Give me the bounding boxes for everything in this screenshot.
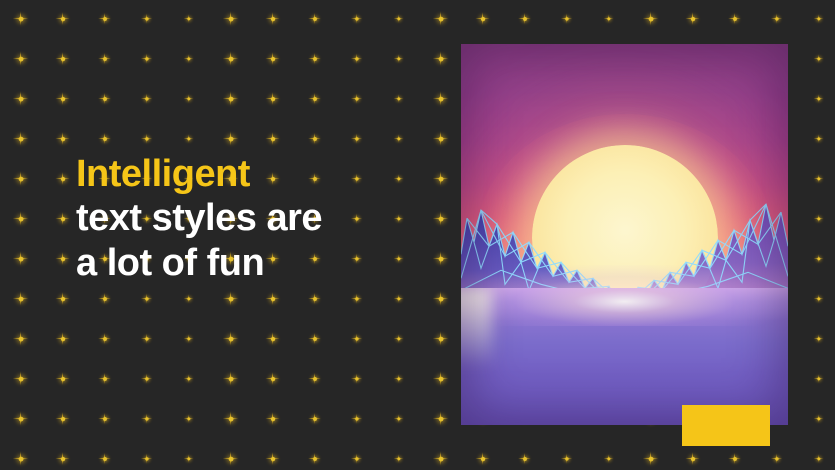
sparkle-star-icon xyxy=(813,53,823,63)
sparkle-star-icon xyxy=(432,410,447,425)
sparkle-star-icon xyxy=(55,11,69,25)
sparkle-star-icon xyxy=(55,171,69,185)
sparkle-star-icon xyxy=(432,90,447,105)
synthwave-artwork-image xyxy=(461,44,788,425)
sparkle-star-icon xyxy=(813,93,823,103)
sparkle-star-icon xyxy=(140,292,151,303)
sparkle-star-icon xyxy=(222,130,237,145)
sparkle-star-icon xyxy=(12,170,27,185)
sparkle-star-icon xyxy=(12,90,27,105)
sparkle-star-icon xyxy=(813,333,823,343)
headline-line-3: a lot of fun xyxy=(76,241,322,285)
sparkle-star-icon xyxy=(55,331,69,345)
yellow-accent-block xyxy=(682,405,770,446)
sparkle-star-icon xyxy=(350,52,361,63)
sparkle-star-icon xyxy=(265,91,279,105)
sparkle-star-icon xyxy=(222,90,237,105)
sparkle-star-icon xyxy=(728,12,741,25)
sparkle-star-icon xyxy=(183,53,193,63)
sparkle-star-icon xyxy=(222,410,237,425)
sparkle-star-icon xyxy=(55,371,69,385)
sparkle-star-icon xyxy=(308,412,321,425)
sparkle-star-icon xyxy=(770,452,781,463)
sparkle-star-icon xyxy=(642,10,657,25)
sparkle-star-icon xyxy=(140,12,151,23)
sparkle-star-icon xyxy=(55,131,69,145)
sparkle-star-icon xyxy=(140,92,151,103)
slide-canvas: Intelligent text styles are a lot of fun xyxy=(0,0,835,470)
headline-block: Intelligent text styles are a lot of fun xyxy=(76,152,322,285)
sparkle-star-icon xyxy=(55,411,69,425)
sparkle-star-icon xyxy=(140,132,151,143)
sparkle-star-icon xyxy=(518,12,531,25)
sparkle-star-icon xyxy=(98,452,111,465)
sparkle-star-icon xyxy=(98,12,111,25)
sparkle-star-icon xyxy=(350,252,361,263)
sparkle-star-icon xyxy=(98,92,111,105)
sparkle-star-icon xyxy=(98,132,111,145)
sparkle-star-icon xyxy=(685,451,699,465)
sparkle-star-icon xyxy=(140,412,151,423)
sparkle-star-icon xyxy=(393,373,403,383)
sparkle-star-icon xyxy=(265,51,279,65)
sparkle-star-icon xyxy=(350,92,361,103)
sparkle-star-icon xyxy=(393,293,403,303)
sparkle-star-icon xyxy=(55,211,69,225)
sparkle-star-icon xyxy=(12,210,27,225)
sparkle-star-icon xyxy=(55,91,69,105)
sparkle-star-icon xyxy=(603,13,613,23)
sparkle-star-icon xyxy=(222,450,237,465)
sparkle-star-icon xyxy=(55,291,69,305)
sparkle-star-icon xyxy=(432,250,447,265)
sparkle-star-icon xyxy=(813,13,823,23)
sparkle-star-icon xyxy=(642,450,657,465)
sparkle-star-icon xyxy=(183,333,193,343)
sparkle-star-icon xyxy=(813,293,823,303)
sparkle-star-icon xyxy=(183,453,193,463)
sparkle-star-icon xyxy=(308,12,321,25)
sparkle-star-icon xyxy=(813,213,823,223)
sparkle-star-icon xyxy=(12,290,27,305)
sparkle-star-icon xyxy=(813,173,823,183)
sparkle-star-icon xyxy=(813,133,823,143)
sparkle-star-icon xyxy=(393,413,403,423)
sparkle-star-icon xyxy=(183,413,193,423)
sparkle-star-icon xyxy=(393,333,403,343)
sparkle-star-icon xyxy=(222,290,237,305)
sparkle-star-icon xyxy=(98,412,111,425)
sparkle-star-icon xyxy=(432,450,447,465)
sparkle-star-icon xyxy=(183,13,193,23)
sparkle-star-icon xyxy=(770,12,781,23)
sparkle-star-icon xyxy=(393,53,403,63)
sparkle-star-icon xyxy=(55,451,69,465)
sparkle-star-icon xyxy=(140,332,151,343)
sparkle-star-icon xyxy=(393,253,403,263)
sparkle-star-icon xyxy=(308,292,321,305)
sparkle-star-icon xyxy=(350,412,361,423)
sparkle-star-icon xyxy=(308,452,321,465)
sparkle-star-icon xyxy=(12,450,27,465)
sparkle-star-icon xyxy=(222,50,237,65)
sparkle-star-icon xyxy=(393,453,403,463)
sparkle-star-icon xyxy=(140,52,151,63)
sparkle-star-icon xyxy=(140,452,151,463)
sparkle-star-icon xyxy=(308,52,321,65)
sparkle-star-icon xyxy=(308,372,321,385)
sparkle-star-icon xyxy=(183,293,193,303)
sparkle-star-icon xyxy=(728,452,741,465)
sparkle-star-icon xyxy=(350,292,361,303)
sparkle-star-icon xyxy=(560,452,571,463)
sparkle-star-icon xyxy=(222,330,237,345)
sparkle-star-icon xyxy=(475,451,489,465)
sparkle-star-icon xyxy=(265,411,279,425)
sparkle-star-icon xyxy=(98,332,111,345)
sparkle-star-icon xyxy=(350,332,361,343)
sparkle-star-icon xyxy=(222,10,237,25)
sparkle-star-icon xyxy=(813,413,823,423)
sparkle-star-icon xyxy=(475,11,489,25)
sparkle-star-icon xyxy=(350,172,361,183)
sparkle-star-icon xyxy=(265,291,279,305)
sparkle-star-icon xyxy=(265,131,279,145)
sparkle-star-icon xyxy=(98,52,111,65)
sparkle-star-icon xyxy=(350,132,361,143)
sparkle-star-icon xyxy=(685,11,699,25)
sparkle-star-icon xyxy=(393,173,403,183)
headline-line-2: text styles are xyxy=(76,196,322,240)
sparkle-star-icon xyxy=(265,451,279,465)
sparkle-star-icon xyxy=(12,370,27,385)
sparkle-star-icon xyxy=(432,210,447,225)
sparkle-star-icon xyxy=(12,10,27,25)
sparkle-star-icon xyxy=(12,250,27,265)
sparkle-star-icon xyxy=(813,373,823,383)
sparkle-star-icon xyxy=(98,292,111,305)
sparkle-star-icon xyxy=(12,410,27,425)
sparkle-star-icon xyxy=(350,12,361,23)
sparkle-star-icon xyxy=(183,93,193,103)
sparkle-star-icon xyxy=(350,452,361,463)
sparkle-star-icon xyxy=(518,452,531,465)
sparkle-star-icon xyxy=(432,290,447,305)
sparkle-star-icon xyxy=(393,213,403,223)
artwork-vignette xyxy=(461,44,788,425)
sparkle-star-icon xyxy=(350,372,361,383)
sparkle-star-icon xyxy=(393,133,403,143)
sparkle-star-icon xyxy=(308,332,321,345)
sparkle-star-icon xyxy=(432,10,447,25)
sparkle-star-icon xyxy=(183,373,193,383)
sparkle-star-icon xyxy=(603,453,613,463)
sparkle-star-icon xyxy=(98,372,111,385)
sparkle-star-icon xyxy=(432,170,447,185)
sparkle-star-icon xyxy=(55,251,69,265)
headline-line-1: Intelligent xyxy=(76,152,322,196)
sparkle-star-icon xyxy=(55,51,69,65)
sparkle-star-icon xyxy=(265,331,279,345)
sparkle-star-icon xyxy=(12,130,27,145)
sparkle-star-icon xyxy=(393,13,403,23)
sparkle-star-icon xyxy=(265,11,279,25)
sparkle-star-icon xyxy=(222,370,237,385)
sparkle-star-icon xyxy=(308,132,321,145)
sparkle-star-icon xyxy=(432,130,447,145)
sparkle-star-icon xyxy=(432,330,447,345)
sparkle-star-icon xyxy=(432,370,447,385)
sparkle-star-icon xyxy=(12,330,27,345)
sparkle-star-icon xyxy=(140,372,151,383)
sparkle-star-icon xyxy=(393,93,403,103)
sparkle-star-icon xyxy=(183,133,193,143)
sparkle-star-icon xyxy=(308,92,321,105)
sparkle-star-icon xyxy=(265,371,279,385)
sparkle-star-icon xyxy=(560,12,571,23)
sparkle-star-icon xyxy=(12,50,27,65)
sparkle-star-icon xyxy=(813,453,823,463)
sparkle-star-icon xyxy=(350,212,361,223)
sparkle-star-icon xyxy=(813,253,823,263)
sparkle-star-icon xyxy=(432,50,447,65)
